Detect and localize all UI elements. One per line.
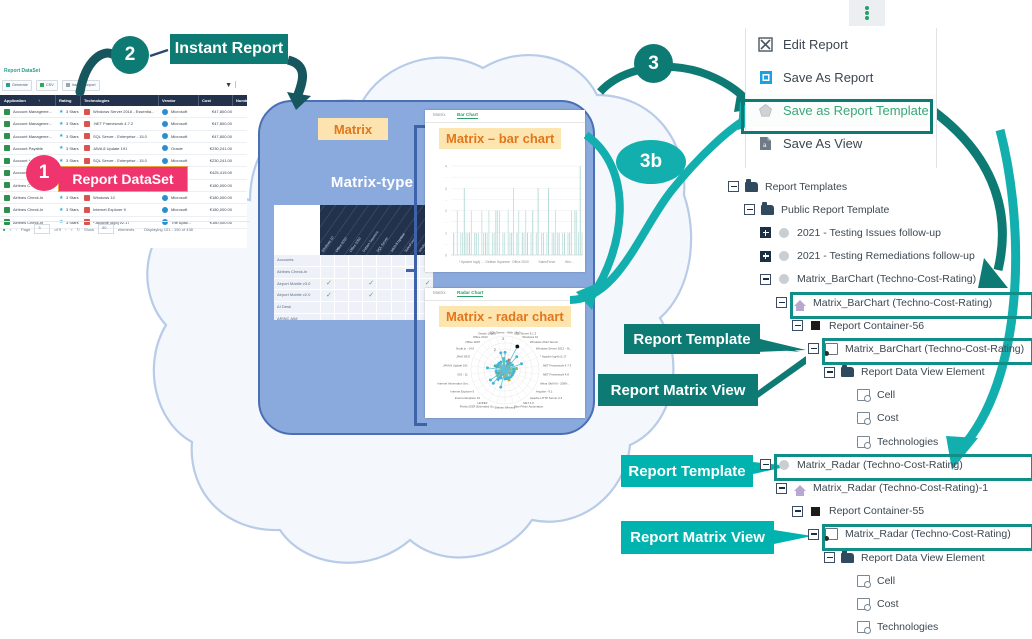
tree-node[interactable]: Technologies [728,616,1032,639]
cell-rating: 3 Stars [66,146,82,151]
diagram-canvas: Report DataSet Generate CSV Instant Repo… [0,0,1032,639]
radar-point [499,351,502,354]
radar-point [506,360,509,363]
bar [471,211,472,256]
radar-axis-label: Internet Explorer 10 [455,396,481,400]
bar [553,233,554,255]
radar-chart-title: Matrix - radar chart [439,306,571,327]
svg-text:1: 1 [445,231,447,235]
menu-item-label: Edit Report [783,37,848,52]
dataset-title: Report DataSet [4,68,40,74]
prev-page-button[interactable]: ‹ [16,227,17,232]
bar [494,233,495,255]
radar-axis-label: JAVA 8 Update 191 [443,363,468,367]
circle-icon [776,249,791,263]
bar [582,233,583,255]
cell-cost: €230,241.00 [202,146,232,151]
radar-axis-label: Internet Explorer 9 [450,389,474,393]
svg-text:3: 3 [502,336,505,341]
bar [576,211,577,256]
tech-icon [84,133,90,139]
folder-icon [840,365,855,379]
step-badge-1: 1 [26,155,62,191]
radar-axis-label: Oracle 10gR2 [478,332,496,336]
app-icon [4,182,10,188]
folder-icon [744,180,759,194]
svg-text:0: 0 [445,254,447,258]
bar [555,211,556,256]
check-icon: ✓ [326,292,332,300]
radar-axis-label: Windows 10 [522,335,538,339]
svg-text:-: - [446,176,448,180]
tree-collapse-toggle[interactable] [808,529,819,540]
bar [466,233,467,255]
app-icon [4,133,10,139]
radar-point [489,379,492,382]
bar [578,233,579,255]
radar-axis-label: HOPEX [477,401,487,405]
cell-technologies: JAVA 8 Update 191 [93,146,157,151]
cell-cost: €47,800.00 [202,121,232,126]
tree-node-label: Report Data View Element [861,552,985,564]
menu-item-edit-report[interactable]: Edit Report [746,28,936,61]
csv-button[interactable]: CSV [36,80,58,91]
edit-report-icon [758,37,773,53]
check-icon: ✓ [368,292,374,300]
vendor-icon [162,207,168,213]
radar-point [515,355,518,358]
menu-item-label: Save As View [783,136,862,151]
tree-node-label: Public Report Template [781,204,889,216]
circle-icon [776,226,791,240]
folder-icon [760,203,775,217]
tree-node-label: Cost [877,412,899,424]
tech-icon [84,109,90,115]
cell-vendor: Microsoft [171,195,197,200]
cell-vendor: Microsoft [171,207,197,212]
tree-collapse-toggle[interactable] [792,506,803,517]
bar [552,233,553,255]
csv-label: CSV [46,83,54,87]
radar-point [499,386,502,389]
bar [517,233,518,255]
radar-point [515,345,519,349]
tree-node-label: 2021 - Testing Remediations follow-up [797,250,975,262]
tree-highlight-box [822,338,1032,365]
radar-chart-card: Matrix Radar Chart SQL Server - Web - 8u… [425,288,585,418]
tree-node[interactable]: 2021 - Testing Remediations follow-up [728,245,1032,268]
radar-point [520,362,523,365]
cell-cost: €180,000.00 [202,207,232,212]
bar [510,233,511,255]
star-icon: ★ [59,109,63,115]
bar [497,211,498,256]
cell-cost: €180,000.00 [202,183,232,188]
tab-matrix-radar[interactable]: Matrix [433,290,446,295]
tree-node-label: Report Container-55 [829,505,924,517]
tree-node-label: Report Container-56 [829,320,924,332]
bar [564,233,565,255]
cell-cost: €230,241.00 [202,158,232,163]
matrix-row: Airport Mobile v3.0✓✓✓ [274,279,433,291]
app-icon [4,121,10,127]
bar [481,211,482,256]
step-badge-3b: 3b [616,140,686,184]
tree-node[interactable]: Cell [728,569,1032,592]
app-icon [4,109,10,115]
page-size-value: 50 [99,225,106,230]
svg-text:3: 3 [445,187,447,191]
column-header-cost[interactable]: Cost [202,98,211,103]
matrix-column-header: Office 2000 [348,237,361,253]
table-row[interactable]: Account Payable★3 StarsJAVA 8 Update 191… [0,143,247,155]
radar-axis-label: Internet Information Ser... [437,381,470,385]
radar-axis-label: JAVA SE 8 [456,355,470,359]
bar-chart-card: Matrix Bar Chart 0-1-2-3-4 * Apache log4… [425,110,585,272]
bar [567,233,568,255]
cell-icon [856,411,871,425]
cell-vendor: Microsoft [171,158,197,163]
elements-label: elements [118,227,134,232]
bar [476,233,477,255]
reload-button[interactable]: ↻ [77,227,80,232]
bar [569,233,570,255]
tree-node-label: Technologies [877,621,938,633]
tech-icon [84,121,90,127]
matrix-rows: Accounts✓Airlines Check-In✓Airport Mobil… [274,255,433,320]
matrix-column-header: Windows 10 [321,236,335,253]
bar [502,233,503,255]
cell-rating: 3 Stars [66,158,82,163]
bar [524,233,525,255]
bar [557,233,558,255]
tree-node[interactable]: Matrix_BarChart (Techno-Cost-Rating) [728,268,1032,291]
tree-node[interactable]: Cell [728,384,1032,407]
refresh-icon [6,83,10,87]
svg-text:-: - [446,220,448,224]
radar-point [511,363,514,366]
matrix-preview-table: Windows 10Office 2010Office 2000Debian S… [274,205,433,320]
matrix-row-label: Accounts [277,257,293,262]
cell-icon [856,620,871,634]
star-icon: ★ [59,145,63,151]
bar [562,233,563,255]
bar [508,211,509,256]
cell-icon [856,597,871,611]
column-header-vendor[interactable]: Vendor [162,98,176,103]
bar [536,233,537,255]
tree-collapse-toggle[interactable] [744,204,755,215]
bar [469,233,470,255]
instant-report-label: Instant Report [72,83,96,87]
x-axis-tick-label: Debian Squeeze [486,260,511,264]
radar-point [499,361,502,364]
radar-axis-label: * Apache log4j v2.17 [540,355,567,359]
tree-node[interactable]: Cost [728,407,1032,430]
star-icon: ★ [59,121,63,127]
radar-axis-label: Apache HTTP Server 2.3 [530,396,563,400]
radar-axis-label: .NET Framework 4.8 [542,373,569,377]
app-icon [4,195,10,201]
matrix-row-label: Airport Mobile v3.0 [277,281,310,286]
tree-node[interactable]: 2021 - Testing Issues follow-up [728,221,1032,244]
radar-chart-plot: SQL Server - Web - 8u0SQL Server 5.1.3Wi… [425,318,585,418]
refresh-status-icon: ■ [3,227,5,232]
app-icon [4,158,10,164]
cell-vendor: Oracle [171,146,197,151]
table-row[interactable]: Airlines Check-In★3 StarsWindows 10Micro… [0,192,247,204]
vendor-icon [162,195,168,201]
radar-point [499,376,502,379]
csv-icon [40,83,44,87]
matrix-row-label: Airport Mobile v2.0 [277,292,310,297]
instant-report-button[interactable]: Instant Report [62,80,100,91]
bar-card-tabs: Matrix Bar Chart [425,110,585,123]
cell-cost: €425,419.00 [202,170,232,175]
radar-axis-label: Angular - 9.1 [536,389,553,393]
vendor-icon [162,158,168,164]
cell-application: Account Payable [13,146,53,151]
star-icon: ★ [59,207,63,213]
cell-rating: 3 Stars [66,195,82,200]
bar [464,188,465,255]
bar [525,211,526,256]
tab-radar-chart[interactable]: Radar Chart [457,290,483,297]
table-row[interactable]: Account Manageme...★3 StarsSQL Server - … [0,131,247,143]
tree-collapse-toggle[interactable] [824,552,835,563]
next-page-button[interactable]: › [65,227,66,232]
tech-icon [84,158,90,164]
radar-point [504,377,507,380]
cell-application: Airlines Check-In [13,207,53,212]
menu-item-label: Save As Report [783,70,873,85]
bar [580,166,581,255]
tree-collapse-toggle[interactable] [776,483,787,494]
bar [541,233,542,255]
page-label: Page [21,227,30,232]
table-row[interactable]: Airlines Check-In★3 StarsInternet Explor… [0,204,247,216]
report-templates-tree: Report TemplatesPublic Report Template20… [728,175,1032,639]
page-of-label: of 9 [54,227,61,232]
matrix-row-label: Airlines Check-In [277,269,307,274]
radar-point [495,370,498,373]
bar [538,188,539,255]
cell-application: Account Manageme... [13,109,53,114]
black-square-icon [808,319,823,333]
bar [462,233,463,255]
tree-highlight-box [774,454,1032,481]
displaying-label: Displaying 101 - 150 of 438 [144,227,193,232]
x-axis-tick-label: * Apache log4j ... [459,260,484,264]
generate-button[interactable]: Generate [2,80,32,91]
tree-node[interactable]: Report Container-55 [728,500,1032,523]
tech-icon [84,145,90,151]
matrix-row: AI Desk✓ [274,302,433,314]
tree-expand-toggle[interactable] [760,227,771,238]
x-axis-tick-label: Win... [565,260,574,264]
bar [499,211,500,256]
table-row[interactable]: Account Manageme...★3 StarsWindows Serve… [0,106,247,118]
show-label: Show [84,227,94,232]
generate-label: Generate [12,83,28,87]
matrix-column-header: SQL Server [376,236,389,253]
matrix-row: Airport Mobile v2.0✓✓✓ [274,290,433,302]
matrix-row-label: AI Desk [277,304,291,309]
cell-rating: 3 Stars [66,109,82,114]
bar [522,233,523,255]
star-icon: ★ [59,158,63,164]
circle-icon [776,272,791,286]
column-header-rating[interactable]: Rating [59,98,71,103]
cell-cost: €47,800.00 [202,109,232,114]
bar [511,233,512,255]
cell-technologies: Internet Explorer 9 [93,207,157,212]
column-header-application[interactable]: Application [4,98,26,103]
kebab-menu-icon[interactable] [849,0,885,26]
bar [474,233,475,255]
menu-item-save-as-report[interactable]: Save As Report [746,61,936,94]
page-input[interactable]: 3 [34,224,50,234]
radar-axis-label: iOS - 11 [457,373,468,377]
radar-card-tabs: Matrix Radar Chart [425,288,585,301]
tree-collapse-toggle[interactable] [760,274,771,285]
tree-collapse-toggle[interactable] [728,181,739,192]
tree-collapse-toggle[interactable] [808,343,819,354]
bar [518,211,519,256]
grid-pagination: ■ « ‹ Page 3 of 9 › » ↻ Show 50 elements… [0,221,250,236]
bar-chart-plot: 0-1-2-3-4 * Apache log4j ...Debian Squee… [425,152,585,272]
radar-point [504,351,507,354]
bar [527,233,528,255]
svg-text:-: - [446,242,448,246]
cell-rating: 3 Stars [66,207,82,212]
star-icon: ★ [59,195,63,201]
cell-vendor: Microsoft [171,134,197,139]
cell-rating: 3 Stars [66,134,82,139]
tree-node-label: Technologies [877,436,938,448]
cell-vendor: Microsoft [171,109,197,114]
tree-node-label: Cell [877,389,895,401]
column-header-technologies[interactable]: Technologies [84,98,109,103]
app-icon [4,207,10,213]
tree-node[interactable]: Report Templates [728,175,1032,198]
first-page-button[interactable]: « [9,227,11,232]
tab-matrix[interactable]: Matrix [433,112,446,117]
tech-icon [84,207,90,213]
folder-icon [840,551,855,565]
tree-node[interactable]: Technologies [728,430,1032,453]
tree-node-label: Cost [877,598,899,610]
tree-node-label: Report Data View Element [861,366,985,378]
charts-bracket-connector [406,269,416,272]
cell-rating: 3 Stars [66,121,82,126]
menu-highlight-box [741,99,933,134]
bar [559,233,560,255]
last-page-button[interactable]: » [70,227,72,232]
grid-header-row: Application ↑ Rating Technologies Vendor… [0,95,247,106]
radar-axis-label: Blue Prism Automation [514,404,544,408]
funnel-icon[interactable]: ▼｜ [225,80,239,90]
bar [485,233,486,255]
tree-highlight-box [822,524,1032,551]
radar-point [492,382,495,385]
vendor-icon [162,121,168,127]
bar [513,188,514,255]
radar-axis-label: Windows Server 2012 - St... [536,347,572,351]
check-icon: ✓ [368,280,374,288]
matrix-row: ARINC AIM✓ [274,314,433,320]
matrix-column-header: Office 2010 [335,237,348,253]
svg-text:-: - [446,198,448,202]
bar [488,211,489,256]
vendor-icon [162,109,168,115]
bar [543,233,544,255]
tree-highlight-box [790,292,1032,319]
vendor-icon [162,145,168,151]
cell-technologies: Windows 10 [93,195,157,200]
bar [460,233,461,255]
check-icon: ✓ [326,280,332,288]
table-row[interactable]: Account Manageme...★3 Stars.NET Framewor… [0,118,247,130]
bar [483,233,484,255]
svg-text:2: 2 [494,347,497,352]
tree-node-label: 2021 - Testing Issues follow-up [797,227,941,239]
step-badge-3: 3 [634,44,673,83]
tech-icon [84,195,90,201]
instant-report-icon [66,83,70,87]
bar [532,211,533,256]
radar-axis-label: Windows 2012 Server [530,340,558,344]
save-view-icon: a [758,136,773,152]
bar-chart-title: Matrix – bar chart [439,128,561,149]
column-header-number[interactable]: Number [236,98,251,103]
radar-axis-label: Alexa Skill Kit - 2099-... [540,381,570,385]
app-icon [4,170,10,176]
save-report-icon [758,70,773,86]
dataset-toolbar: Generate CSV Instant Report [2,79,100,91]
tab-bar-chart[interactable]: Bar Chart [457,112,478,119]
callout-report-dataset: Report DataSet [58,166,188,192]
bar [575,211,576,256]
tree-node-label: Cell [877,575,895,587]
cell-application: Account Manageme... [13,121,53,126]
cell-technologies: .NET Framework 4.7.2 [93,121,157,126]
tree-node[interactable]: Cost [728,592,1032,615]
step-badge-2: 2 [111,36,149,74]
bar [478,233,479,255]
cell-application: Airlines Check-In [13,195,53,200]
tree-expand-toggle[interactable] [760,251,771,262]
bar [495,211,496,256]
cell-cost: €47,800.00 [202,134,232,139]
svg-text:4: 4 [445,165,447,169]
radar-axis-label: .NET Framework 4.7.3 [542,363,571,367]
bar [467,233,468,255]
bar [504,233,505,255]
home-icon [792,481,807,495]
tree-collapse-toggle[interactable] [760,459,771,470]
context-menu: Edit Report Save As Report Save as Repor… [745,28,937,168]
radar-axis-label: Debian Wheezy [495,406,516,410]
tree-node[interactable]: Public Report Template [728,198,1032,221]
tree-collapse-toggle[interactable] [776,297,787,308]
tree-collapse-toggle[interactable] [824,367,835,378]
page-size-select[interactable]: 50 [98,224,114,234]
cell-vendor: Microsoft [171,121,197,126]
tree-collapse-toggle[interactable] [792,320,803,331]
cell-technologies: Windows Server 2016 - Essentia... [93,109,157,114]
bar [487,233,488,255]
